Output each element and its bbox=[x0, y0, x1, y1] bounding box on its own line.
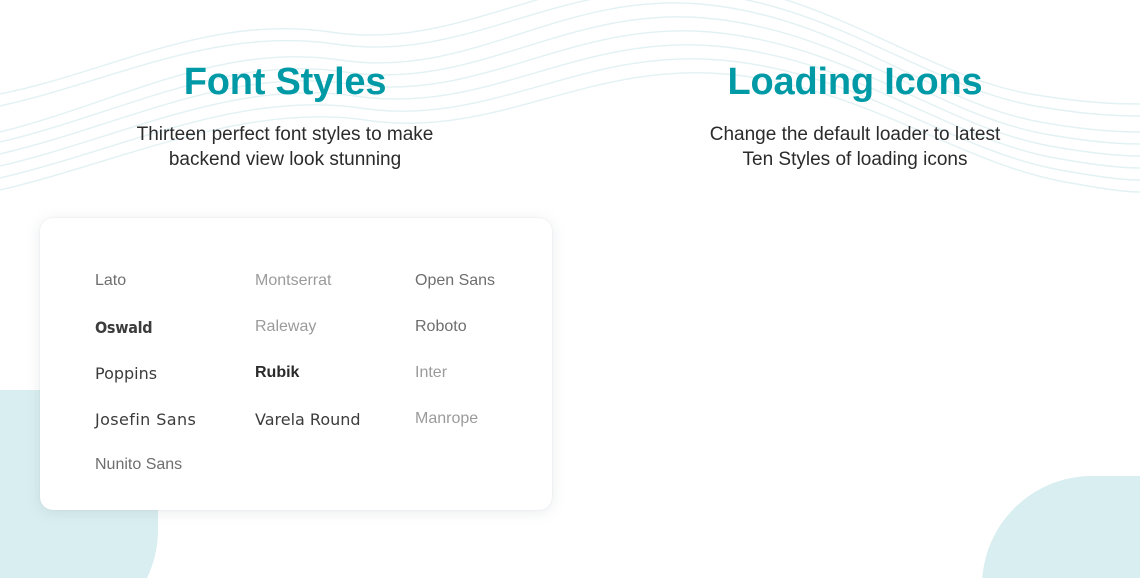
font-item-poppins[interactable]: Poppins bbox=[95, 364, 255, 383]
panel-font-styles: Font Styles Thirteen perfect font styles… bbox=[0, 0, 570, 578]
panel-loading-icons: Loading Icons Change the default loader … bbox=[570, 0, 1140, 578]
font-item-rubik[interactable]: Rubik bbox=[255, 364, 415, 382]
loading-icons-title: Loading Icons bbox=[570, 62, 1140, 104]
font-styles-subtitle: Thirteen perfect font styles to make bac… bbox=[0, 122, 570, 173]
panels-container: Font Styles Thirteen perfect font styles… bbox=[0, 0, 1140, 578]
font-item-lato[interactable]: Lato bbox=[95, 272, 255, 290]
font-item-oswald[interactable]: Oswald bbox=[95, 318, 255, 337]
loading-icons-subtitle: Change the default loader to latest Ten … bbox=[570, 122, 1140, 173]
font-item-raleway[interactable]: Raleway bbox=[255, 318, 415, 336]
font-item-open-sans[interactable]: Open Sans bbox=[415, 272, 575, 290]
font-styles-title: Font Styles bbox=[0, 62, 570, 104]
font-item-josefin-sans[interactable]: Josefin Sans bbox=[95, 410, 255, 429]
font-styles-card: Lato Montserrat Open Sans Oswald Raleway… bbox=[40, 218, 552, 510]
font-list: Lato Montserrat Open Sans Oswald Raleway… bbox=[40, 258, 552, 488]
font-item-montserrat[interactable]: Montserrat bbox=[255, 272, 415, 290]
font-item-varela-round[interactable]: Varela Round bbox=[255, 410, 415, 429]
font-item-inter[interactable]: Inter bbox=[415, 364, 575, 382]
font-item-nunito-sans[interactable]: Nunito Sans bbox=[95, 456, 255, 474]
font-item-manrope[interactable]: Manrope bbox=[415, 410, 575, 428]
font-item-roboto[interactable]: Roboto bbox=[415, 318, 575, 336]
